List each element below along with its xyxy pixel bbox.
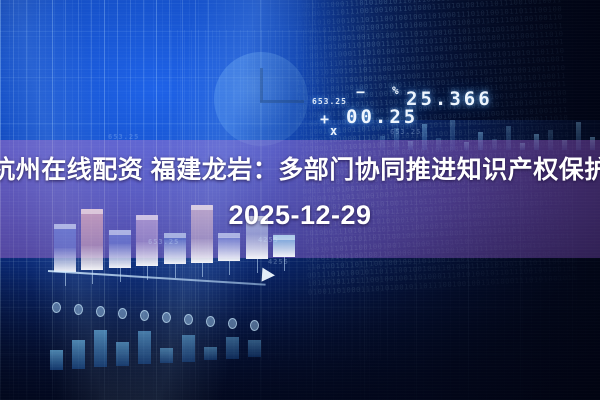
- chart-marker-dot: [74, 304, 83, 315]
- chart-bar-cap: [54, 224, 76, 229]
- number-653: 653.25: [312, 97, 347, 106]
- faint-number-4: 4255: [258, 236, 279, 244]
- number-25366: 25.366: [406, 88, 493, 110]
- faint-number-3: 653.25: [148, 238, 179, 246]
- chart-bar-cap: [109, 230, 131, 235]
- background-small-bar-chart: [44, 300, 294, 380]
- chart-marker-dot: [162, 312, 171, 323]
- chart-bar: [109, 230, 131, 268]
- chart-bar-glow: [81, 246, 103, 270]
- small-chart-bar: [204, 347, 217, 360]
- chart-bar: [81, 209, 103, 270]
- chart-bar-glow: [54, 248, 76, 272]
- chart-bar: [191, 205, 213, 263]
- percent-sign-icon: %: [392, 84, 401, 97]
- small-chart-bar: [226, 337, 239, 359]
- small-chart-bar: [248, 340, 261, 358]
- chart-bar: [218, 233, 240, 261]
- small-chart-bar: [182, 335, 195, 361]
- minus-sign-icon: −: [356, 83, 367, 101]
- faint-number-5: 4255: [268, 258, 289, 266]
- chart-marker-dot: [96, 306, 105, 317]
- small-chart-bar: [50, 350, 63, 370]
- chart-axis-tick: [229, 261, 230, 275]
- chart-marker-dot: [140, 310, 149, 321]
- chart-axis-tick: [92, 270, 93, 284]
- chart-bar: [54, 224, 76, 272]
- faint-number-1: 653.25: [390, 128, 421, 136]
- banner-image: 0100110100011101010010110111001001001101…: [0, 0, 600, 400]
- chart-bar-cap: [191, 205, 213, 210]
- chart-marker-dot: [184, 314, 193, 325]
- number-0025: 00.25: [346, 106, 418, 128]
- chart-marker-dot: [250, 320, 259, 331]
- small-chart-bar: [116, 342, 129, 366]
- chart-bar-glow: [218, 237, 240, 261]
- chart-axis-tick: [65, 272, 66, 286]
- chart-marker-dot: [118, 308, 127, 319]
- chart-bar-glow: [109, 244, 131, 268]
- small-chart-bar: [160, 348, 173, 363]
- chart-axis-tick: [147, 266, 148, 280]
- chart-marker-dot: [206, 316, 215, 327]
- chart-axis-tick: [175, 264, 176, 278]
- chart-bar-cap: [136, 215, 158, 220]
- chart-marker-dot: [228, 318, 237, 329]
- chart-bar-cap: [81, 209, 103, 214]
- page-title: 杭州在线配资 福建龙岩：多部门协同推进知识产权保护: [0, 150, 600, 186]
- chart-marker-dot: [52, 302, 61, 313]
- multiply-sign-icon: x: [330, 124, 339, 138]
- chart-axis-tick: [120, 268, 121, 282]
- date-label: 2025-12-29: [228, 200, 371, 231]
- chart-bar-glow: [191, 239, 213, 263]
- small-chart-bar: [72, 340, 85, 369]
- chart-axis-tick: [257, 259, 258, 273]
- small-chart-bar: [138, 331, 151, 364]
- small-chart-bar: [94, 330, 107, 367]
- chart-axis-tick: [202, 263, 203, 277]
